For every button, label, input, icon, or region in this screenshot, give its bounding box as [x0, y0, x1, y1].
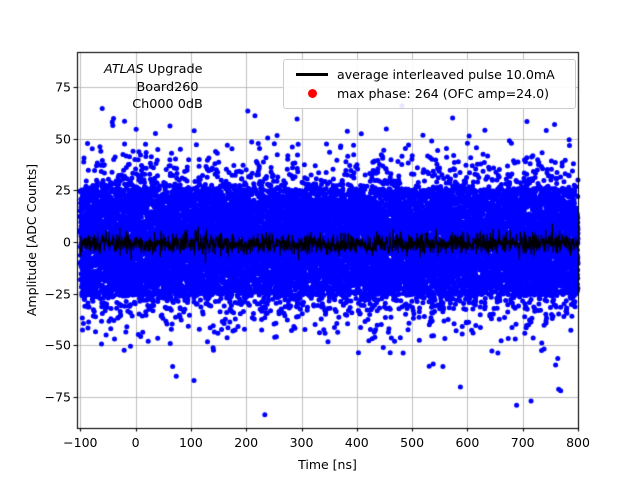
legend-entry-max-phase: max phase: 264 (OFC amp=24.0)	[291, 84, 568, 103]
legend-label-max-phase: max phase: 264 (OFC amp=24.0)	[333, 86, 549, 101]
legend-line-swatch-icon	[291, 73, 333, 75]
legend-dot-swatch-icon	[291, 89, 333, 98]
legend-label-average-pulse: average interleaved pulse 10.0mA	[333, 67, 555, 82]
legend-box: average interleaved pulse 10.0mA max pha…	[283, 59, 576, 109]
figure-canvas-container: ATLAS Upgrade Board260 Ch000 0dB average…	[0, 0, 640, 480]
legend-entry-average-pulse: average interleaved pulse 10.0mA	[291, 65, 568, 84]
